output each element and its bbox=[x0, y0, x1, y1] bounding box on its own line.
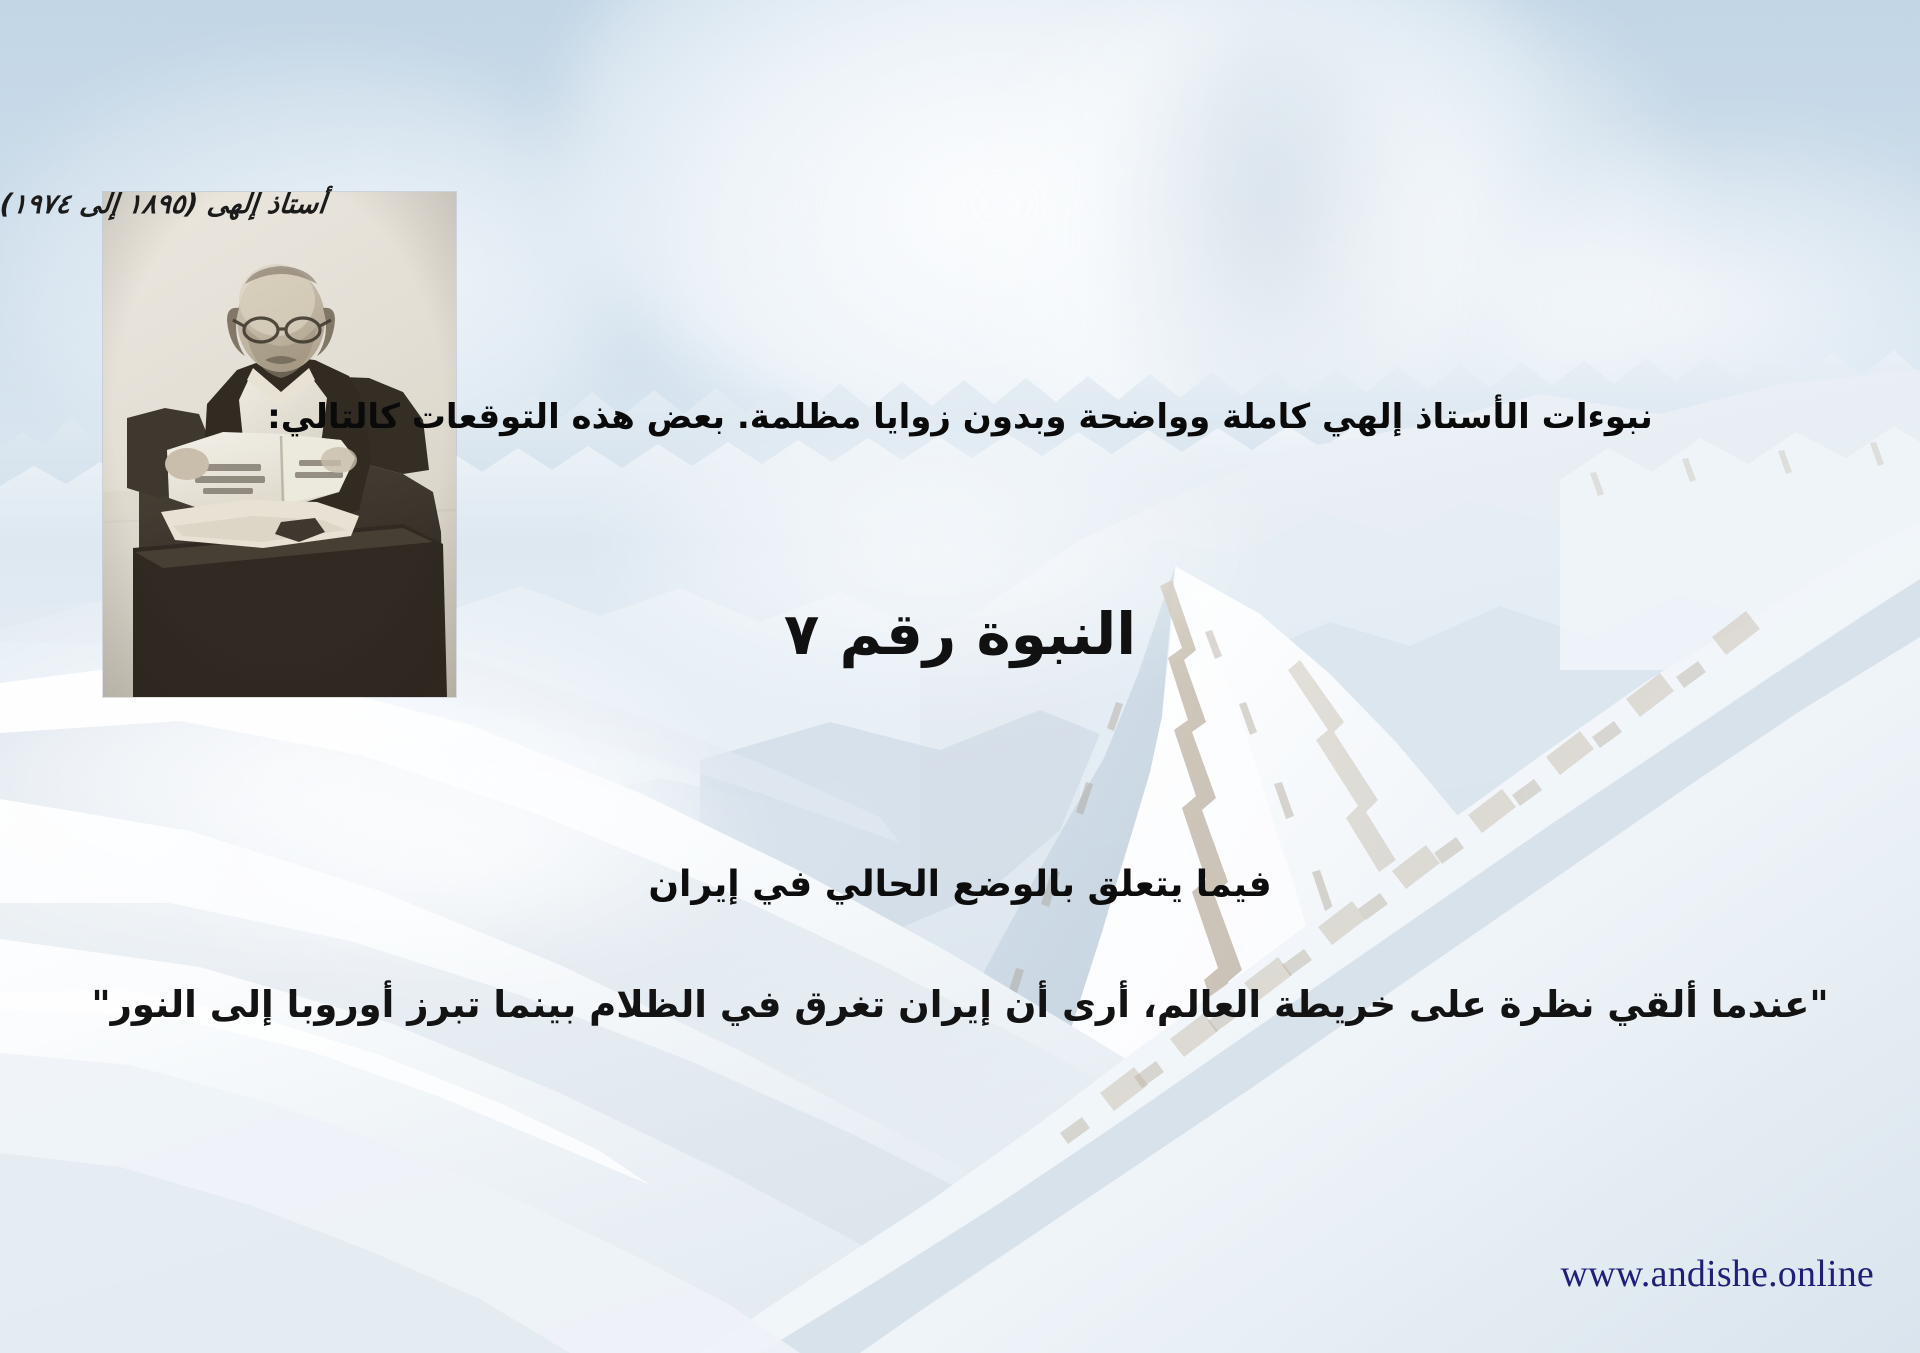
author-attribution: أستاذ إلهی (١٨٩٥ إلى ١٩٧٤) bbox=[0, 188, 790, 222]
prophecy-quote: "عندما ألقي نظرة على خريطة العالم، أرى أ… bbox=[0, 982, 1920, 1028]
poster-canvas: أستاذ إلهی (١٨٩٥ إلى ١٩٧٤) نبوءات الأستا… bbox=[0, 0, 1920, 1353]
page-title: النبوة رقم ٧ bbox=[0, 598, 1920, 671]
website-link[interactable]: www.andishe.online bbox=[1560, 1252, 1874, 1296]
attribution-text: أستاذ إلهی (١٨٩٥ إلى ١٩٧٤) bbox=[0, 188, 328, 222]
subheading: فيما يتعلق بالوضع الحالي في إيران bbox=[0, 862, 1920, 907]
lead-paragraph: نبوءات الأستاذ إلهي كاملة وواضحة وبدون ز… bbox=[40, 396, 1880, 439]
